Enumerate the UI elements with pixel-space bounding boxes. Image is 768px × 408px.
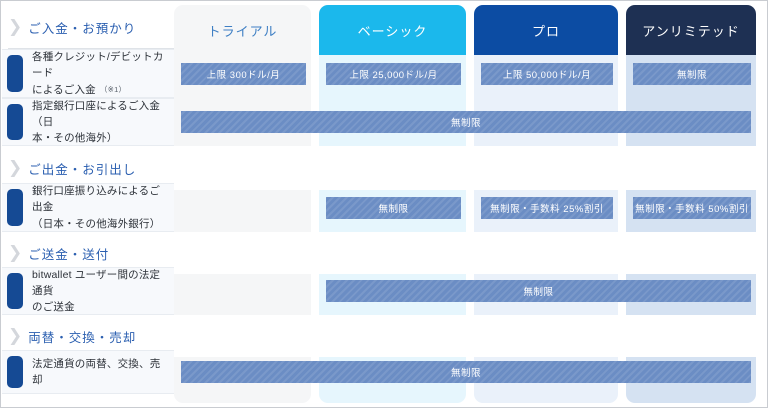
section-title: ご送金・送付 — [28, 244, 109, 263]
row-marker-tab — [7, 104, 23, 140]
column-header-basic[interactable]: ベーシック — [319, 5, 466, 55]
row-label-line1: 各種クレジット/デビットカード — [32, 51, 164, 79]
row-label: 指定銀行口座によるご入金（日本・その他海外） — [2, 98, 174, 147]
row-label-cell: 法定通貨の両替、交換、売却 — [2, 350, 174, 394]
row-marker-tab — [7, 55, 23, 92]
value-text: 無制限 — [378, 201, 408, 215]
row-label-cell: 指定銀行口座によるご入金（日本・その他海外） — [2, 98, 174, 146]
value-bar: 上限 50,000ドル/月 — [481, 63, 613, 85]
row-label: bitwallet ユーザー間の法定通貨のご送金 — [2, 267, 174, 316]
row-values: 上限 300ドル/月上限 25,000ドル/月上限 50,000ドル/月無制限 — [174, 49, 767, 98]
row-values: 無制限 — [174, 350, 767, 394]
value-text: 無制限・手数料 50%割引 — [635, 201, 749, 215]
value-text: 無制限 — [451, 115, 481, 129]
pricing-comparison-table: トライアル ベーシック プロ アンリミテッド ❯ご入金・お預かり各種クレジット/… — [0, 0, 768, 408]
chevron-right-icon: ❯ — [8, 245, 22, 262]
section-header[interactable]: ❯ご入金・お預かり — [2, 5, 174, 49]
section-title: 両替・交換・売却 — [28, 327, 136, 346]
row-label-line2: 本・その他海外） — [32, 132, 118, 144]
row-values: 無制限無制限・手数料 25%割引無制限・手数料 50%割引 — [174, 183, 767, 232]
row-label-note: （※1） — [100, 85, 126, 94]
row-label-cell: 銀行口座振り込みによるご出金（日本・その他海外銀行） — [2, 183, 174, 232]
row-label-line2: のご送金 — [32, 301, 75, 313]
value-bar: 無制限 — [633, 63, 751, 85]
value-bar: 無制限・手数料 50%割引 — [633, 197, 751, 219]
section-title: ご出金・お引出し — [28, 159, 136, 178]
value-bar: 無制限 — [326, 280, 751, 302]
value-bar: 無制限 — [181, 361, 751, 383]
row-marker-tab — [7, 273, 23, 309]
value-bar: 無制限 — [326, 197, 461, 219]
row-label: 各種クレジット/デビットカードによるご入金（※1） — [2, 49, 174, 98]
row-label: 銀行口座振り込みによるご出金（日本・その他海外銀行） — [2, 183, 174, 232]
row-label-line1: 法定通貨の両替、交換、売却 — [32, 358, 160, 386]
row-label-cell: bitwallet ユーザー間の法定通貨のご送金 — [2, 267, 174, 315]
row-values: 無制限 — [174, 98, 767, 146]
chevron-right-icon: ❯ — [8, 19, 22, 36]
value-bar: 上限 300ドル/月 — [181, 63, 306, 85]
table-row: 指定銀行口座によるご入金（日本・その他海外）無制限 — [2, 98, 767, 146]
column-header-unlimited[interactable]: アンリミテッド — [626, 5, 756, 55]
value-text: 無制限 — [451, 365, 481, 379]
value-text: 上限 50,000ドル/月 — [503, 67, 591, 81]
section-title: ご入金・お預かり — [28, 18, 136, 37]
row-label-line2: （日本・その他海外銀行） — [32, 218, 160, 230]
table-row: 法定通貨の両替、交換、売却無制限 — [2, 350, 767, 394]
value-text: 無制限 — [677, 67, 707, 81]
row-label-line1: 指定銀行口座によるご入金（日 — [32, 100, 160, 128]
chevron-right-icon: ❯ — [8, 160, 22, 177]
table-row: 各種クレジット/デビットカードによるご入金（※1）上限 300ドル/月上限 25… — [2, 49, 767, 98]
value-text: 無制限 — [523, 284, 553, 298]
row-label-cell: 各種クレジット/デビットカードによるご入金（※1） — [2, 49, 174, 98]
row-label-line1: bitwallet ユーザー間の法定通貨 — [32, 269, 160, 297]
table-row: bitwallet ユーザー間の法定通貨のご送金無制限 — [2, 267, 767, 315]
row-marker-tab — [7, 189, 23, 226]
value-bar: 無制限・手数料 25%割引 — [481, 197, 613, 219]
column-header-trial[interactable]: トライアル — [174, 5, 311, 55]
value-text: 上限 25,000ドル/月 — [349, 67, 437, 81]
value-bar: 無制限 — [181, 111, 751, 133]
row-values: 無制限 — [174, 267, 767, 315]
chevron-right-icon: ❯ — [8, 328, 22, 345]
column-header-pro[interactable]: プロ — [474, 5, 618, 55]
value-text: 上限 300ドル/月 — [207, 67, 281, 81]
row-label-line2: によるご入金 — [32, 84, 96, 96]
row-label-line1: 銀行口座振り込みによるご出金 — [32, 185, 160, 213]
row-marker-tab — [7, 356, 23, 388]
row-label: 法定通貨の両替、交換、売却 — [2, 356, 174, 389]
value-text: 無制限・手数料 25%割引 — [490, 201, 604, 215]
table-row: 銀行口座振り込みによるご出金（日本・その他海外銀行）無制限無制限・手数料 25%… — [2, 183, 767, 232]
value-bar: 上限 25,000ドル/月 — [326, 63, 461, 85]
